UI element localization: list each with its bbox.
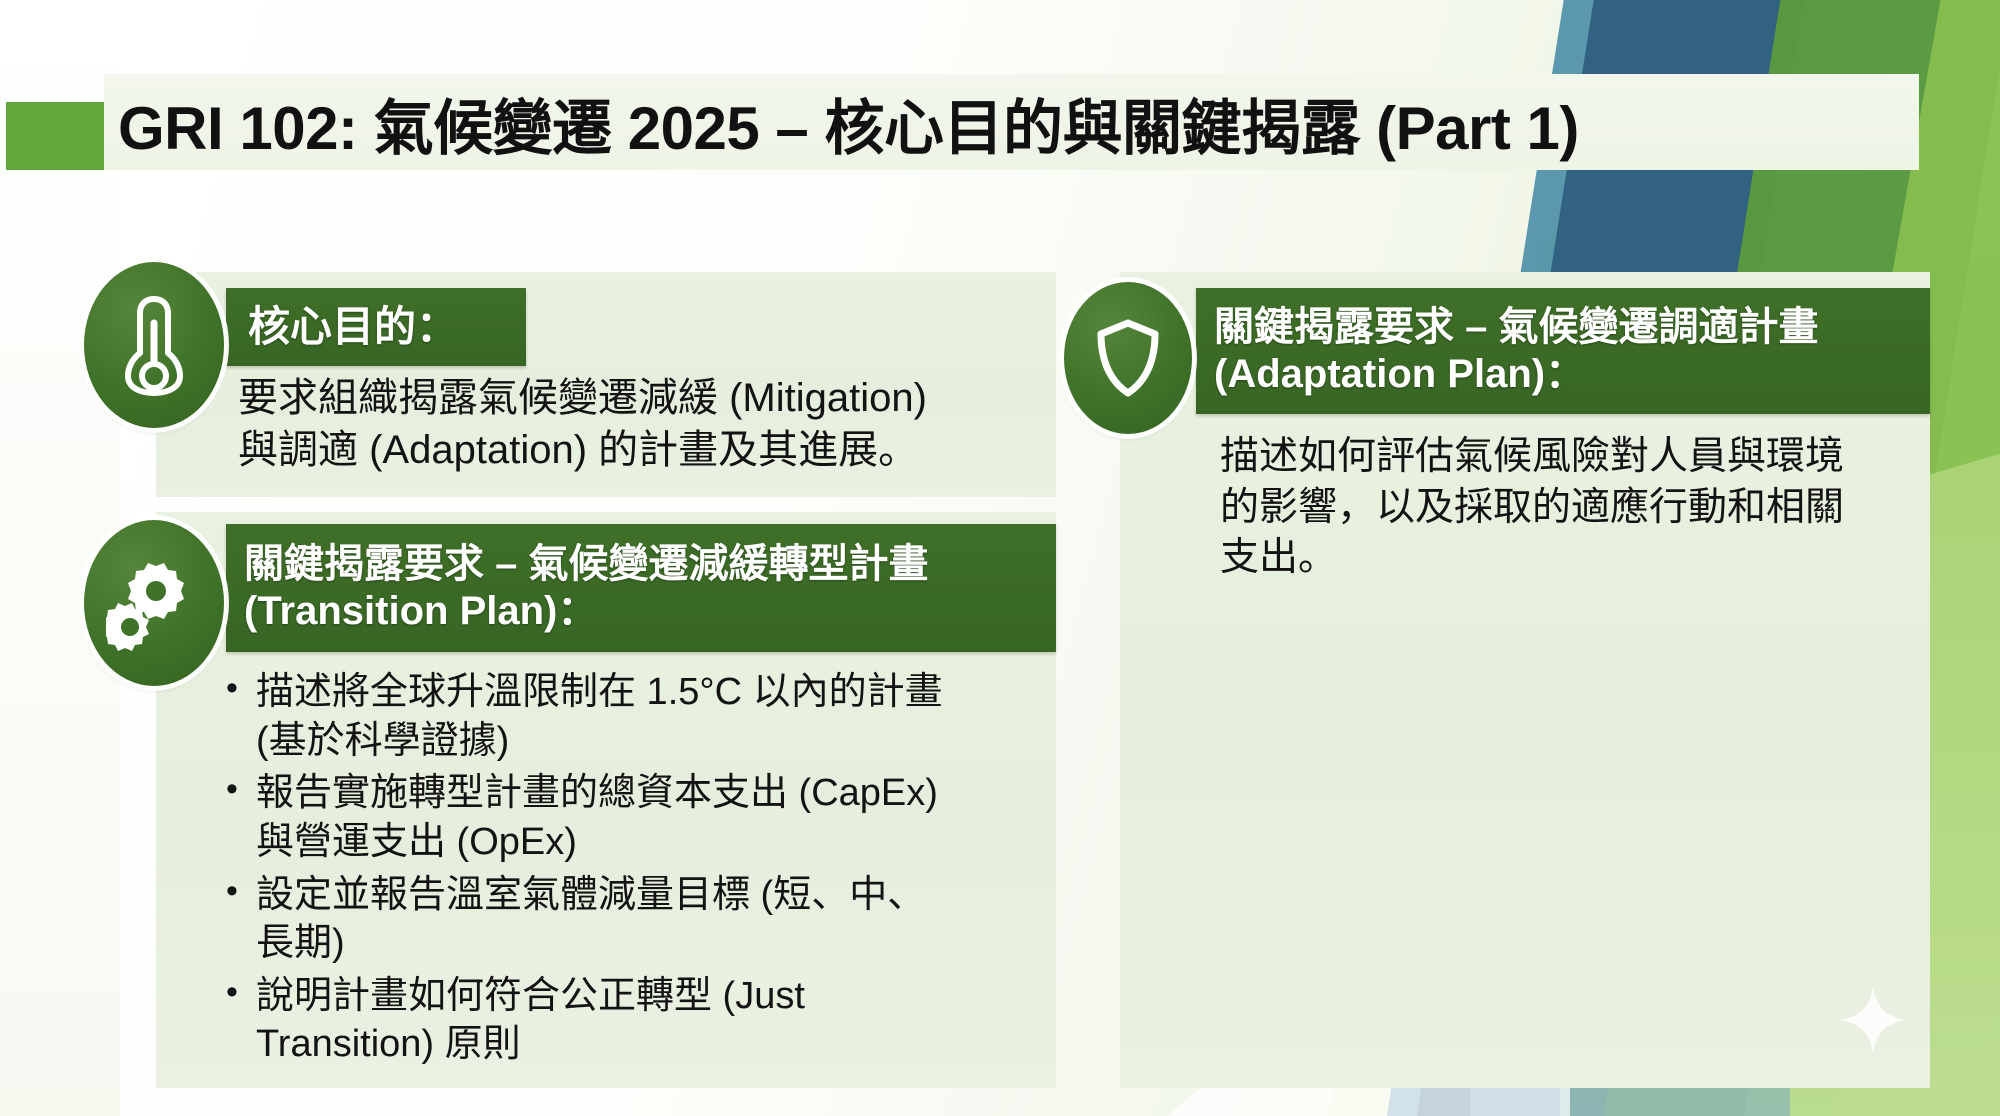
list-item: 報告實施轉型計畫的總資本支出 (CapEx) 與營運支出 (OpEx) bbox=[256, 769, 1106, 866]
card-transition-plan-header-line-1: 關鍵揭露要求 – 氣候變遷減緩轉型計畫 bbox=[244, 541, 1038, 588]
card-transition-plan-header-line-2: (Transition Plan)： bbox=[244, 588, 1038, 635]
shield-icon bbox=[1064, 282, 1192, 434]
bullet-3-line-1: 設定並報告溫室氣體減量目標 (短、中、 bbox=[256, 871, 1106, 920]
card-core-purpose-body-line-1: 要求組織揭露氣候變遷減緩 (Mitigation) bbox=[238, 372, 1048, 424]
slide-root: GRI 102: 氣候變遷 2025 – 核心目的與關鍵揭露 (Part 1) … bbox=[0, 0, 2000, 1116]
card-transition-plan-header: 關鍵揭露要求 – 氣候變遷減緩轉型計畫 (Transition Plan)： bbox=[226, 524, 1056, 652]
bullet-1-line-1: 描述將全球升溫限制在 1.5°C 以內的計畫 bbox=[256, 668, 1106, 717]
bullet-3-line-2: 長期) bbox=[256, 919, 1106, 968]
list-item: 說明計畫如何符合公正轉型 (Just Transition) 原則 bbox=[256, 972, 1106, 1069]
bullet-4-line-2: Transition) 原則 bbox=[256, 1020, 1106, 1069]
bullet-1-line-2: (基於科學證據) bbox=[256, 717, 1106, 766]
card-adaptation-plan-body-line-3: 支出。 bbox=[1220, 533, 1940, 584]
card-core-purpose-body-line-2: 與調適 (Adaptation) 的計畫及其進展。 bbox=[238, 424, 1048, 476]
card-adaptation-plan-header-line-1: 關鍵揭露要求 – 氣候變遷調適計畫 bbox=[1214, 304, 1912, 351]
card-adaptation-plan-header-line-2: (Adaptation Plan)： bbox=[1214, 351, 1912, 398]
card-adaptation-plan-header: 關鍵揭露要求 – 氣候變遷調適計畫 (Adaptation Plan)： bbox=[1196, 288, 1930, 414]
bullet-2-line-1: 報告實施轉型計畫的總資本支出 (CapEx) bbox=[256, 769, 1106, 818]
list-item: 設定並報告溫室氣體減量目標 (短、中、 長期) bbox=[256, 871, 1106, 968]
bullet-4-line-1: 說明計畫如何符合公正轉型 (Just bbox=[256, 972, 1106, 1021]
card-core-purpose-header-line-1: 核心目的： bbox=[248, 302, 504, 352]
card-transition-plan-bullet-list: 描述將全球升溫限制在 1.5°C 以內的計畫 (基於科學證據) 報告實施轉型計畫… bbox=[210, 668, 1106, 1073]
card-core-purpose-body: 要求組織揭露氣候變遷減緩 (Mitigation) 與調適 (Adaptatio… bbox=[238, 372, 1048, 476]
sparkle-icon bbox=[1838, 985, 1908, 1055]
gears-icon bbox=[84, 520, 224, 686]
title-accent-block bbox=[6, 102, 104, 170]
card-adaptation-plan-body-line-1: 描述如何評估氣候風險對人員與環境 bbox=[1220, 432, 1940, 483]
card-core-purpose-header: 核心目的： bbox=[226, 288, 526, 366]
list-item: 描述將全球升溫限制在 1.5°C 以內的計畫 (基於科學證據) bbox=[256, 668, 1106, 765]
card-adaptation-plan-body: 描述如何評估氣候風險對人員與環境 的影響，以及採取的適應行動和相關 支出。 bbox=[1220, 432, 1940, 584]
thermometer-icon bbox=[84, 262, 224, 428]
bullet-2-line-2: 與營運支出 (OpEx) bbox=[256, 818, 1106, 867]
card-adaptation-plan-body-line-2: 的影響，以及採取的適應行動和相關 bbox=[1220, 483, 1940, 534]
page-title: GRI 102: 氣候變遷 2025 – 核心目的與關鍵揭露 (Part 1) bbox=[118, 80, 1918, 167]
